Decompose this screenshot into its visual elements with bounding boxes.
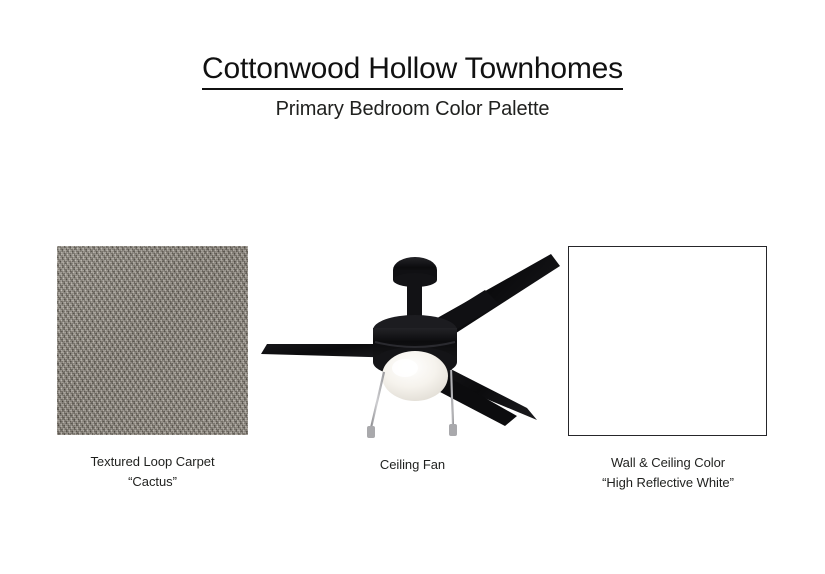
- ceiling-fan-caption: Ceiling Fan: [300, 455, 525, 475]
- pull-chain-left: [371, 372, 384, 428]
- carpet-caption-line1: Textured Loop Carpet: [90, 454, 214, 469]
- pull-chain-right-finial: [449, 424, 457, 436]
- page-title: Cottonwood Hollow Townhomes: [202, 52, 623, 90]
- ceiling-fan-caption-line1: Ceiling Fan: [380, 457, 445, 472]
- fan-light-shade: [382, 351, 448, 401]
- color-palette-page: Cottonwood Hollow Townhomes Primary Bedr…: [0, 0, 825, 574]
- wall-ceiling-color-swatch: [568, 246, 767, 436]
- wall-ceiling-caption-line1: Wall & Ceiling Color: [611, 455, 725, 470]
- title-block: Cottonwood Hollow Townhomes: [0, 52, 825, 90]
- wall-ceiling-color-caption: Wall & Ceiling Color “High Reflective Wh…: [548, 453, 788, 493]
- carpet-caption: Textured Loop Carpet “Cactus”: [32, 452, 273, 492]
- ceiling-fan-illustration: [255, 248, 565, 438]
- page-subtitle: Primary Bedroom Color Palette: [0, 96, 825, 122]
- pull-chain-left-finial: [367, 426, 375, 438]
- carpet-caption-line2: “Cactus”: [32, 472, 273, 492]
- wall-ceiling-caption-line2: “High Reflective White”: [548, 473, 788, 493]
- carpet-swatch-image: [57, 246, 248, 435]
- ceiling-fan-image: [255, 248, 565, 438]
- fan-light-shade-highlight: [392, 359, 418, 377]
